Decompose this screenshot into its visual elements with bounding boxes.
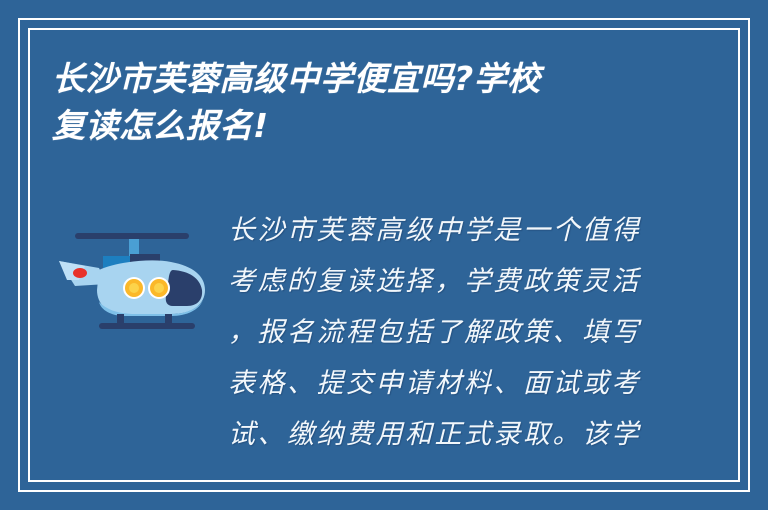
title-line-1: 长沙市芙蓉高级中学便宜吗?学校 <box>52 55 692 102</box>
skid-strut-right-icon <box>165 314 172 324</box>
body-line-1: 长沙市芙蓉高级中学是一个值得 <box>228 205 668 256</box>
body-line-3: ，报名流程包括了解政策、填写 <box>228 307 668 358</box>
helicopter-illustration <box>55 218 215 333</box>
page-title: 长沙市芙蓉高级中学便宜吗?学校 复读怎么报名! <box>52 55 692 149</box>
body-line-5: 试、缴纳费用和正式录取。该学 <box>228 409 668 460</box>
skid-strut-left-icon <box>117 314 124 324</box>
body-line-4: 表格、提交申请材料、面试或考 <box>228 358 668 409</box>
poster-canvas: 长沙市芙蓉高级中学便宜吗?学校 复读怎么报名! <box>0 0 768 510</box>
nose-light-icon <box>73 268 87 278</box>
porthole-right-highlight-icon <box>154 283 164 293</box>
porthole-left-highlight-icon <box>129 283 139 293</box>
rotor-blade-icon <box>75 233 189 239</box>
body-text-block: 长沙市芙蓉高级中学是一个值得 考虑的复读选择，学费政策灵活 ，报名流程包括了解政… <box>228 205 668 460</box>
skid-rail-icon <box>99 323 195 329</box>
title-line-2: 复读怎么报名! <box>52 102 692 149</box>
body-line-2: 考虑的复读选择，学费政策灵活 <box>228 256 668 307</box>
